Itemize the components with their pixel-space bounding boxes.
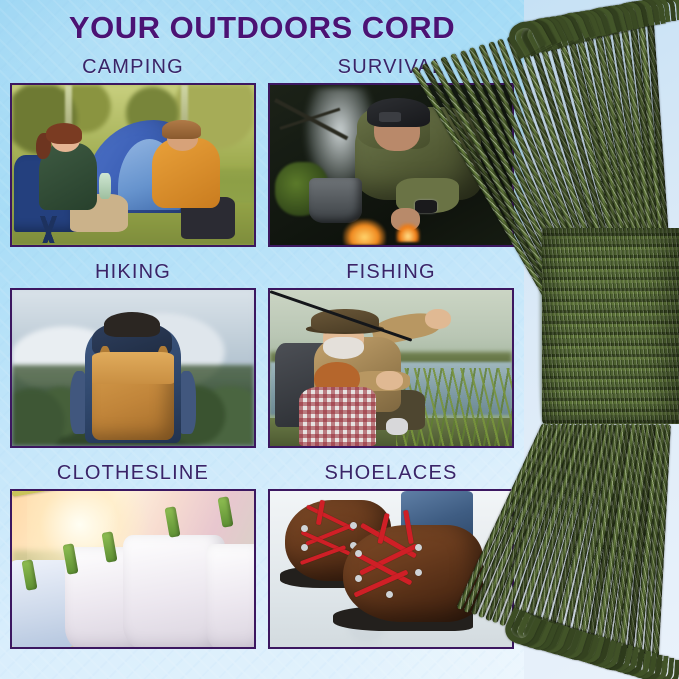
row-spacer xyxy=(0,247,524,261)
boot-eyelet xyxy=(355,550,362,557)
survival-flame xyxy=(396,223,420,242)
camping-bottle xyxy=(99,173,111,199)
clothesline-frame xyxy=(10,489,256,649)
hiking-frame xyxy=(10,288,256,448)
camping-photo xyxy=(12,85,254,245)
page-title: YOUR OUTDOORS CORD xyxy=(0,10,524,46)
boot-eyelet xyxy=(355,575,362,582)
product-image-paracord xyxy=(524,0,679,679)
use-case-label-camping: CAMPING xyxy=(10,56,256,83)
survival-campfire xyxy=(343,219,387,245)
fishing-man-beard xyxy=(323,337,364,359)
use-case-hiking: HIKING xyxy=(10,261,256,448)
survival-headlamp xyxy=(379,112,401,122)
use-case-shoelaces: SHOELACES xyxy=(268,462,514,649)
row-spacer xyxy=(0,448,524,462)
fishing-man-hand xyxy=(425,309,452,329)
use-case-grid: CAMPING xyxy=(0,56,524,649)
use-case-label-clothesline: CLOTHESLINE xyxy=(10,462,256,489)
use-case-clothesline: CLOTHESLINE xyxy=(10,462,256,649)
use-case-fishing: FISHING xyxy=(268,261,514,448)
fishing-photo xyxy=(270,290,512,446)
camping-frame xyxy=(10,83,256,247)
use-case-label-fishing: FISHING xyxy=(268,261,514,288)
fishing-man-forward-hand xyxy=(376,371,403,390)
boot-eyelet xyxy=(350,522,357,529)
fishing-hat xyxy=(311,309,379,332)
camping-man-beanie xyxy=(162,120,201,139)
paracord-wrapped-midsection xyxy=(542,228,679,424)
fishing-frame xyxy=(268,288,514,448)
use-case-label-shoelaces: SHOELACES xyxy=(268,462,514,489)
fishing-boy-plaid-shirt xyxy=(299,387,376,446)
use-case-camping: CAMPING xyxy=(10,56,256,247)
hiking-hair xyxy=(104,312,160,337)
camping-chair-legs xyxy=(22,216,75,243)
survival-watch xyxy=(415,200,437,213)
clothesline-photo xyxy=(12,491,254,647)
use-case-row-2: HIKING xyxy=(0,261,524,448)
fishing-reel xyxy=(386,418,408,435)
use-case-label-hiking: HIKING xyxy=(10,261,256,288)
hiking-backpack-flap xyxy=(92,352,174,383)
clothesline-garment xyxy=(206,544,254,647)
survival-cooking-pot xyxy=(309,178,362,223)
hiking-photo xyxy=(12,290,254,446)
product-banner: YOUR OUTDOORS CORD CAMPING xyxy=(0,0,679,679)
camping-woman-hair xyxy=(46,123,82,144)
use-case-row-3: CLOTHESLINE xyxy=(0,462,524,649)
boot-eyelet xyxy=(386,591,393,598)
